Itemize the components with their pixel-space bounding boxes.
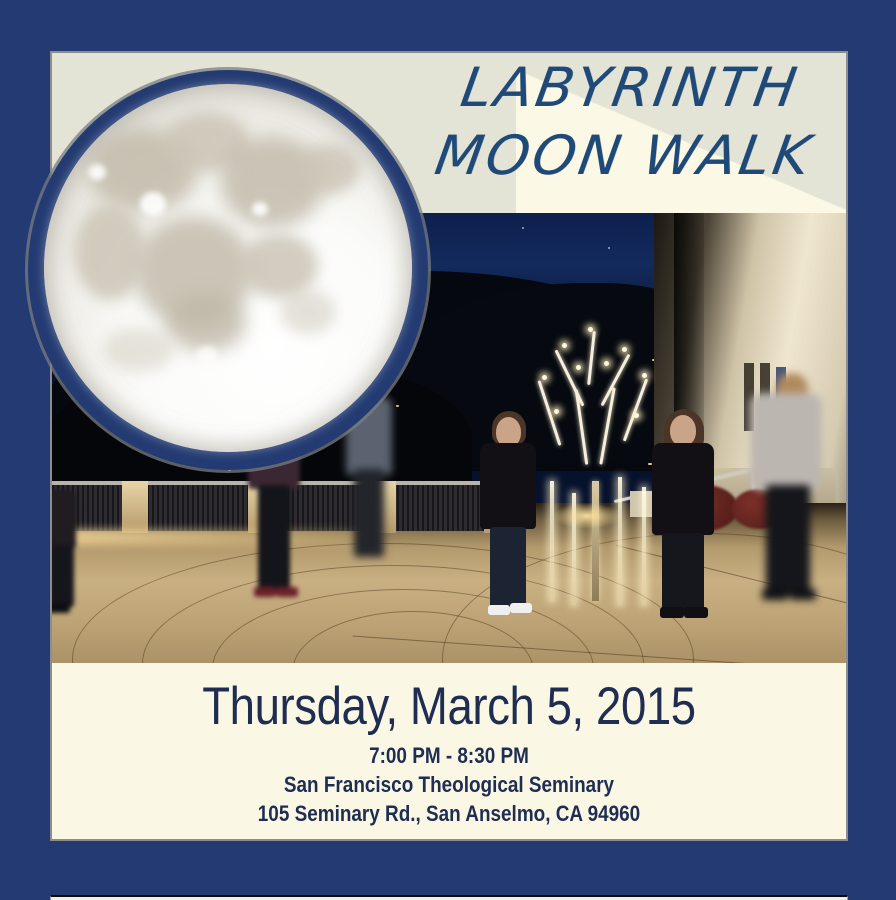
tree-light: [604, 361, 609, 366]
tree-trunk: [592, 481, 599, 601]
moon-limb-shading: [44, 84, 412, 452]
person-walker-left: [472, 411, 542, 621]
person-shoe: [254, 587, 276, 597]
person-legs: [766, 485, 810, 595]
person-shoe: [276, 587, 298, 597]
event-info-panel: Thursday, March 5, 2015 7:00 PM - 8:30 P…: [52, 663, 846, 839]
person-legs: [662, 533, 704, 611]
tree-light: [562, 343, 567, 348]
event-address: 105 Seminary Rd., San Anselmo, CA 94960: [108, 799, 791, 828]
title-line-moon-walk: MOON WALK: [398, 129, 845, 183]
person-torso: [652, 443, 714, 535]
person-walker-right: [646, 409, 722, 623]
tree-light: [588, 327, 593, 332]
star-icon: [522, 227, 524, 229]
tree-light: [634, 413, 639, 418]
tree-light: [622, 347, 627, 352]
person-shoe: [684, 607, 708, 618]
person-partial-left-edge: [52, 489, 80, 617]
tree-base-glow: [552, 503, 622, 529]
poster-title: LABYRINTH MOON WALK: [407, 61, 837, 183]
tree-branch: [599, 387, 615, 464]
person-shoe: [488, 605, 510, 615]
bottom-edge-strip: [50, 895, 848, 900]
tree-light: [554, 409, 559, 414]
person-torso: [750, 393, 822, 491]
tree-branch: [623, 378, 648, 441]
tree-light: [642, 373, 647, 378]
event-venue: San Francisco Theological Seminary: [108, 770, 791, 799]
person-shoe: [762, 589, 788, 600]
person-shoe: [510, 603, 532, 613]
person-walker-blurred-right: [742, 373, 832, 613]
star-icon: [608, 247, 610, 249]
person-legs: [490, 527, 526, 609]
person-torso: [480, 443, 536, 529]
person-shoe: [660, 607, 684, 618]
tree-light: [576, 365, 581, 370]
moon-graphic: [28, 70, 428, 470]
event-date: Thursday, March 5, 2015: [108, 663, 791, 735]
railing-uplight-glow: [52, 529, 382, 545]
person-legs: [354, 469, 384, 557]
tree-branch: [587, 331, 596, 385]
title-line-labyrinth: LABYRINTH: [398, 61, 845, 115]
person-torso: [52, 489, 76, 549]
event-time: 7:00 PM - 8:30 PM: [108, 741, 791, 770]
person-shoe: [790, 589, 816, 600]
person-legs: [258, 485, 290, 591]
person-shoe: [52, 603, 70, 613]
person-legs: [52, 545, 74, 607]
railing-post: [122, 481, 148, 533]
person-head: [670, 415, 696, 446]
moon-icon: [44, 84, 412, 452]
tree-light: [542, 375, 547, 380]
light-strand: [550, 481, 554, 601]
tree-branch: [555, 349, 585, 406]
light-strand: [618, 477, 622, 605]
